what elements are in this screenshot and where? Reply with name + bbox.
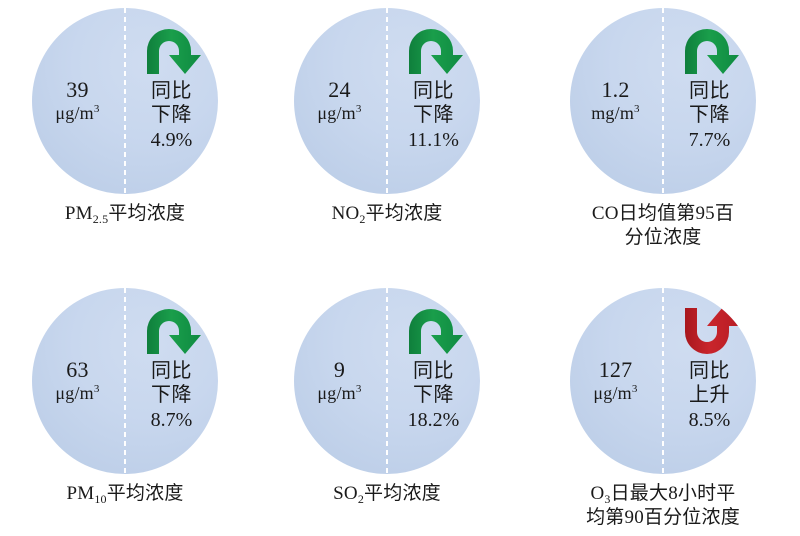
- caption-text: 平均浓度: [366, 203, 443, 224]
- metric-compare-label-pm25: 同比: [151, 78, 192, 102]
- caption-line: CO日均值第95百: [543, 202, 783, 226]
- metric-unit-exponent: 3: [94, 383, 100, 395]
- metric-unit-exponent: 3: [356, 103, 362, 115]
- arrow-down-trend-icon: [141, 24, 203, 76]
- metric-percent-pm25: 4.9%: [151, 128, 193, 152]
- metric-compare-label-no2: 同比: [413, 78, 454, 102]
- metric-value-co: 1.2: [601, 77, 629, 103]
- caption-text: PM: [66, 483, 94, 504]
- caption-text: 均第90百分位浓度: [586, 507, 740, 528]
- caption-line: PM2.5平均浓度: [5, 202, 245, 226]
- metric-percent-pm10: 8.7%: [151, 408, 193, 432]
- caption-line: 均第90百分位浓度: [543, 506, 783, 530]
- caption-line: NO2平均浓度: [267, 202, 507, 226]
- metric-unit-base: mg/m: [591, 103, 634, 123]
- caption-line: 分位浓度: [543, 226, 783, 250]
- caption-line: O3日最大8小时平: [543, 482, 783, 506]
- metric-dial-so2: 9 μg/m3 同比 下降 18.2%: [294, 288, 480, 474]
- metric-change-group-pm10: 同比 下降 8.7%: [125, 288, 218, 474]
- metric-unit-pm10: μg/m3: [55, 383, 99, 405]
- metric-unit-base: μg/m: [317, 383, 355, 403]
- arrow-down-trend-icon: [403, 24, 465, 76]
- metric-percent-so2: 18.2%: [408, 408, 460, 432]
- metric-change-lines-co: 同比 下降 7.7%: [689, 78, 731, 152]
- arrow-down-trend-icon: [403, 304, 465, 356]
- caption-text: 平均浓度: [107, 483, 184, 504]
- metric-unit-no2: μg/m3: [317, 103, 361, 125]
- metric-direction-label-co: 下降: [689, 102, 730, 126]
- metric-card-pm10[interactable]: 63 μg/m3 同比 下降 8.7% PM10平均: [0, 288, 253, 506]
- metric-value-so2: 9: [334, 357, 345, 383]
- metric-value-group-no2: 24 μg/m3: [294, 8, 387, 194]
- caption-subscript: 3: [604, 492, 610, 506]
- metric-value-group-so2: 9 μg/m3: [294, 288, 387, 474]
- metric-unit-base: μg/m: [317, 103, 355, 123]
- metric-change-group-so2: 同比 下降 18.2%: [387, 288, 480, 474]
- metric-direction-label-no2: 下降: [413, 102, 454, 126]
- caption-text: CO日均值第95百: [592, 203, 734, 224]
- metric-change-group-co: 同比 下降 7.7%: [663, 8, 756, 194]
- caption-text: PM: [65, 203, 93, 224]
- metric-compare-label-co: 同比: [689, 78, 730, 102]
- caption-subscript: 2.5: [93, 212, 109, 226]
- metric-caption-so2: SO2平均浓度: [267, 482, 507, 506]
- metric-unit-co: mg/m3: [591, 103, 640, 125]
- metric-unit-base: μg/m: [55, 103, 93, 123]
- arrow-down-trend-icon: [679, 24, 741, 76]
- metric-value-pm10: 63: [66, 357, 88, 383]
- metric-dial-co: 1.2 mg/m3 同比 下降 7.7%: [570, 8, 756, 194]
- metric-value-group-o3: 127 μg/m3: [570, 288, 663, 474]
- air-quality-infographic: 39 μg/m3 同比 下降 4.9% PM2.5平: [0, 0, 800, 536]
- metric-direction-label-pm10: 下降: [151, 382, 192, 406]
- metric-caption-pm25: PM2.5平均浓度: [5, 202, 245, 226]
- caption-line: SO2平均浓度: [267, 482, 507, 506]
- arrow-up-trend-icon: [679, 304, 741, 356]
- metric-percent-o3: 8.5%: [689, 408, 731, 432]
- metric-caption-no2: NO2平均浓度: [267, 202, 507, 226]
- metric-compare-label-o3: 同比: [689, 358, 730, 382]
- metric-value-pm25: 39: [66, 77, 88, 103]
- metric-caption-o3: O3日最大8小时平均第90百分位浓度: [543, 482, 783, 530]
- metric-card-so2[interactable]: 9 μg/m3 同比 下降 18.2% SO2平均浓: [259, 288, 515, 506]
- caption-text: NO: [332, 203, 360, 224]
- metric-card-no2[interactable]: 24 μg/m3 同比 下降 11.1% NO2平均: [259, 8, 515, 226]
- metric-dial-pm25: 39 μg/m3 同比 下降 4.9%: [32, 8, 218, 194]
- arrow-down-trend-icon: [141, 304, 203, 356]
- caption-subscript: 2: [359, 212, 365, 226]
- metric-compare-label-so2: 同比: [413, 358, 454, 382]
- metric-change-group-o3: 同比 上升 8.5%: [663, 288, 756, 474]
- metric-value-no2: 24: [328, 77, 350, 103]
- metric-card-pm25[interactable]: 39 μg/m3 同比 下降 4.9% PM2.5平: [0, 8, 253, 226]
- metric-dial-no2: 24 μg/m3 同比 下降 11.1%: [294, 8, 480, 194]
- metric-unit-exponent: 3: [356, 383, 362, 395]
- metric-caption-co: CO日均值第95百分位浓度: [543, 202, 783, 250]
- metric-change-lines-so2: 同比 下降 18.2%: [408, 358, 460, 432]
- caption-text: 分位浓度: [625, 227, 702, 248]
- caption-subscript: 2: [358, 492, 364, 506]
- metric-direction-label-o3: 上升: [689, 382, 730, 406]
- caption-text: O: [590, 483, 604, 504]
- caption-text: 平均浓度: [108, 203, 185, 224]
- metric-unit-o3: μg/m3: [593, 383, 637, 405]
- caption-line: PM10平均浓度: [5, 482, 245, 506]
- metric-value-group-pm25: 39 μg/m3: [32, 8, 125, 194]
- metric-value-group-pm10: 63 μg/m3: [32, 288, 125, 474]
- metric-percent-no2: 11.1%: [408, 128, 459, 152]
- metric-unit-exponent: 3: [632, 383, 638, 395]
- caption-text: SO: [333, 483, 358, 504]
- metric-unit-base: μg/m: [593, 383, 631, 403]
- metric-compare-label-pm10: 同比: [151, 358, 192, 382]
- metric-dial-pm10: 63 μg/m3 同比 下降 8.7%: [32, 288, 218, 474]
- metric-value-o3: 127: [599, 357, 633, 383]
- metric-value-group-co: 1.2 mg/m3: [570, 8, 663, 194]
- metric-unit-exponent: 3: [94, 103, 100, 115]
- metric-change-group-pm25: 同比 下降 4.9%: [125, 8, 218, 194]
- metric-card-o3[interactable]: 127 μg/m3 同比 上升 8.5% O3日最大: [535, 288, 791, 530]
- caption-subscript: 10: [94, 492, 106, 506]
- metric-change-lines-pm25: 同比 下降 4.9%: [151, 78, 193, 152]
- metric-unit-base: μg/m: [55, 383, 93, 403]
- metric-change-lines-pm10: 同比 下降 8.7%: [151, 358, 193, 432]
- metric-change-group-no2: 同比 下降 11.1%: [387, 8, 480, 194]
- metric-caption-pm10: PM10平均浓度: [5, 482, 245, 506]
- metric-direction-label-so2: 下降: [413, 382, 454, 406]
- metric-card-co[interactable]: 1.2 mg/m3 同比 下降 7.7% CO日均值: [535, 8, 791, 250]
- metric-direction-label-pm25: 下降: [151, 102, 192, 126]
- caption-text: 日最大8小时平: [611, 483, 736, 504]
- metric-change-lines-o3: 同比 上升 8.5%: [689, 358, 731, 432]
- metric-unit-so2: μg/m3: [317, 383, 361, 405]
- caption-text: 平均浓度: [364, 483, 441, 504]
- metric-unit-pm25: μg/m3: [55, 103, 99, 125]
- metric-dial-o3: 127 μg/m3 同比 上升 8.5%: [570, 288, 756, 474]
- metric-change-lines-no2: 同比 下降 11.1%: [408, 78, 459, 152]
- metric-unit-exponent: 3: [634, 103, 640, 115]
- metric-percent-co: 7.7%: [689, 128, 731, 152]
